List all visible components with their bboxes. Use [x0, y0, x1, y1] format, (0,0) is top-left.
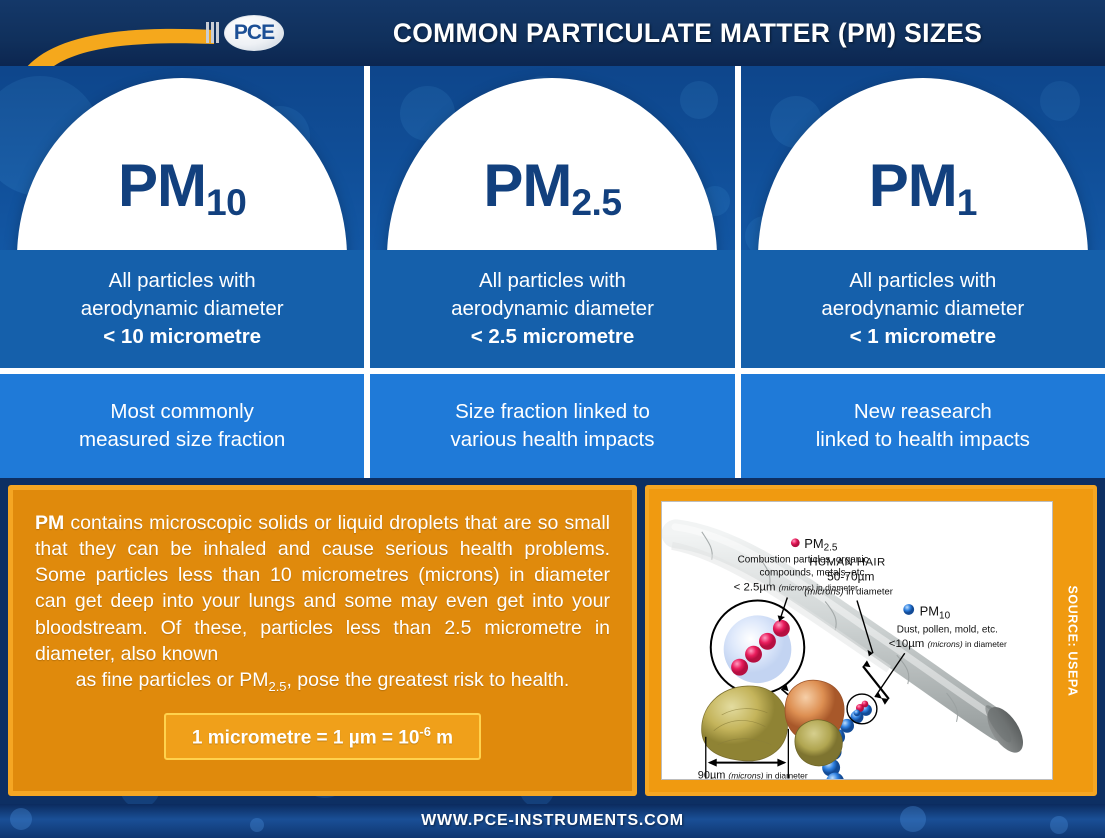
desc-line-1: All particles with: [849, 267, 996, 295]
pm-note-pm10: Most commonly measured size fraction: [0, 374, 364, 478]
pm-title-pm10: PM10: [118, 156, 246, 216]
source-text: SOURCE: USEPA: [1066, 585, 1080, 696]
desc-line-1: All particles with: [109, 267, 256, 295]
brand-swoosh-icon: [0, 0, 260, 66]
note-line-2: measured size fraction: [79, 426, 285, 454]
note-line-1: Most commonly: [110, 398, 254, 426]
footer-url[interactable]: WWW.PCE-INSTRUMENTS.COM: [421, 812, 684, 830]
logo-bars-icon: [206, 22, 219, 43]
usepa-diagram-panel: HUMAN HAIR 50-70µm (microns) in diameter…: [645, 485, 1097, 796]
pm-card-pm1[interactable]: PM1 All particles with aerodynamic diame…: [735, 66, 1105, 478]
micrometre-formula-box: 1 micrometre = 1 µm = 10-6 m: [164, 713, 481, 760]
pm-title-prefix: PM: [869, 152, 957, 219]
pm-title-subscript: 1: [957, 181, 977, 223]
pm25-callout-line3: < 2.5µm (microns) in diameter: [734, 582, 858, 594]
note-line-2: linked to health impacts: [816, 426, 1030, 454]
diagram-source-label: SOURCE: USEPA: [1053, 489, 1093, 792]
pm-title-prefix: PM: [118, 152, 206, 219]
pm-explanation-text: PM contains microscopic solids or liquid…: [35, 510, 610, 695]
pm-last-line-b: , pose the greatest risk to health.: [286, 669, 569, 691]
pm-body-text: contains microscopic solids or liquid dr…: [35, 512, 610, 665]
pm-title-prefix: PM: [483, 152, 571, 219]
pm25-callout-line2: compounds, metals, etc.: [759, 568, 867, 579]
formula-exponent: -6: [419, 724, 430, 739]
pm-title-pm1: PM1: [869, 156, 977, 216]
desc-line-2: aerodynamic diameter: [451, 295, 654, 323]
pm10-legend-dot: [903, 604, 914, 615]
dome-shape: PM2.5: [387, 78, 717, 250]
pm-title-subscript: 10: [206, 181, 246, 223]
pm-last-line: as fine particles or PM2.5, pose the gre…: [35, 667, 610, 695]
pce-logo-text: PCE: [234, 21, 274, 45]
note-line-1: Size fraction linked to: [455, 398, 650, 426]
page-title: COMMON PARTICULATE MATTER (PM) SIZES: [290, 0, 1105, 66]
pm10-callout-title: PM10: [920, 603, 951, 621]
sand-grain-3: [795, 720, 842, 766]
pm25-legend-dot: [791, 538, 800, 547]
pm-card-pm10[interactable]: PM10 All particles with aerodynamic diam…: [0, 66, 364, 478]
note-line-1: New reasearch: [854, 398, 992, 426]
pm-description-pm1: All particles with aerodynamic diameter …: [741, 250, 1105, 368]
pm-cards-band: PM10 All particles with aerodynamic diam…: [0, 66, 1105, 478]
sand-grain-1: [702, 686, 788, 761]
pm10-callout-line2: <10µm (microns) in diameter: [889, 638, 1007, 650]
desc-line-1: All particles with: [479, 267, 626, 295]
page-header: PCE COMMON PARTICULATE MATTER (PM) SIZES: [0, 0, 1105, 66]
dome-shape: PM10: [17, 78, 347, 250]
pm-title-subscript: 2.5: [571, 181, 621, 223]
usepa-diagram-svg: HUMAN HAIR 50-70µm (microns) in diameter…: [662, 502, 1052, 780]
pm-last-line-subscript: 2.5: [269, 679, 287, 694]
pm25-callout-line1: Combustion particles, organic: [738, 555, 869, 566]
pm-description-pm25: All particles with aerodynamic diameter …: [370, 250, 734, 368]
pm-lead-word: PM: [35, 512, 64, 534]
desc-line-3: < 2.5 micrometre: [471, 323, 635, 351]
pm-card-dome: PM1: [741, 66, 1105, 250]
page-footer: WWW.PCE-INSTRUMENTS.COM: [0, 804, 1105, 838]
pm-note-pm25: Size fraction linked to various health i…: [370, 374, 734, 478]
formula-part-a: 1 micrometre = 1 µm = 10: [192, 727, 419, 748]
pm25-callout-title: PM2.5: [804, 536, 838, 554]
pm-card-pm25[interactable]: PM2.5 All particles with aerodynamic dia…: [364, 66, 734, 478]
pm10-callout-line1: Dust, pollen, mold, etc.: [897, 624, 998, 635]
pm-last-line-a: as fine particles or PM: [76, 669, 269, 691]
desc-line-2: aerodynamic diameter: [821, 295, 1024, 323]
pm-card-dome: PM10: [0, 66, 364, 250]
formula-part-b: m: [431, 727, 453, 748]
dome-shape: PM1: [758, 78, 1088, 250]
pm-note-pm1: New reasearch linked to health impacts: [741, 374, 1105, 478]
pm-title-pm25: PM2.5: [483, 156, 621, 216]
desc-line-3: < 10 micrometre: [103, 323, 261, 351]
note-line-2: various health impacts: [451, 426, 655, 454]
lower-section: PM contains microscopic solids or liquid…: [0, 478, 1105, 804]
sand-size-label: 90µm (microns) in diameter: [698, 770, 808, 780]
pm-explanation-panel: PM contains microscopic solids or liquid…: [8, 485, 637, 796]
desc-line-2: aerodynamic diameter: [81, 295, 284, 323]
usepa-diagram-image: HUMAN HAIR 50-70µm (microns) in diameter…: [661, 501, 1053, 780]
desc-line-3: < 1 micrometre: [850, 323, 996, 351]
pce-logo[interactable]: PCE: [224, 15, 284, 51]
pm-description-pm10: All particles with aerodynamic diameter …: [0, 250, 364, 368]
pm-card-dome: PM2.5: [370, 66, 734, 250]
